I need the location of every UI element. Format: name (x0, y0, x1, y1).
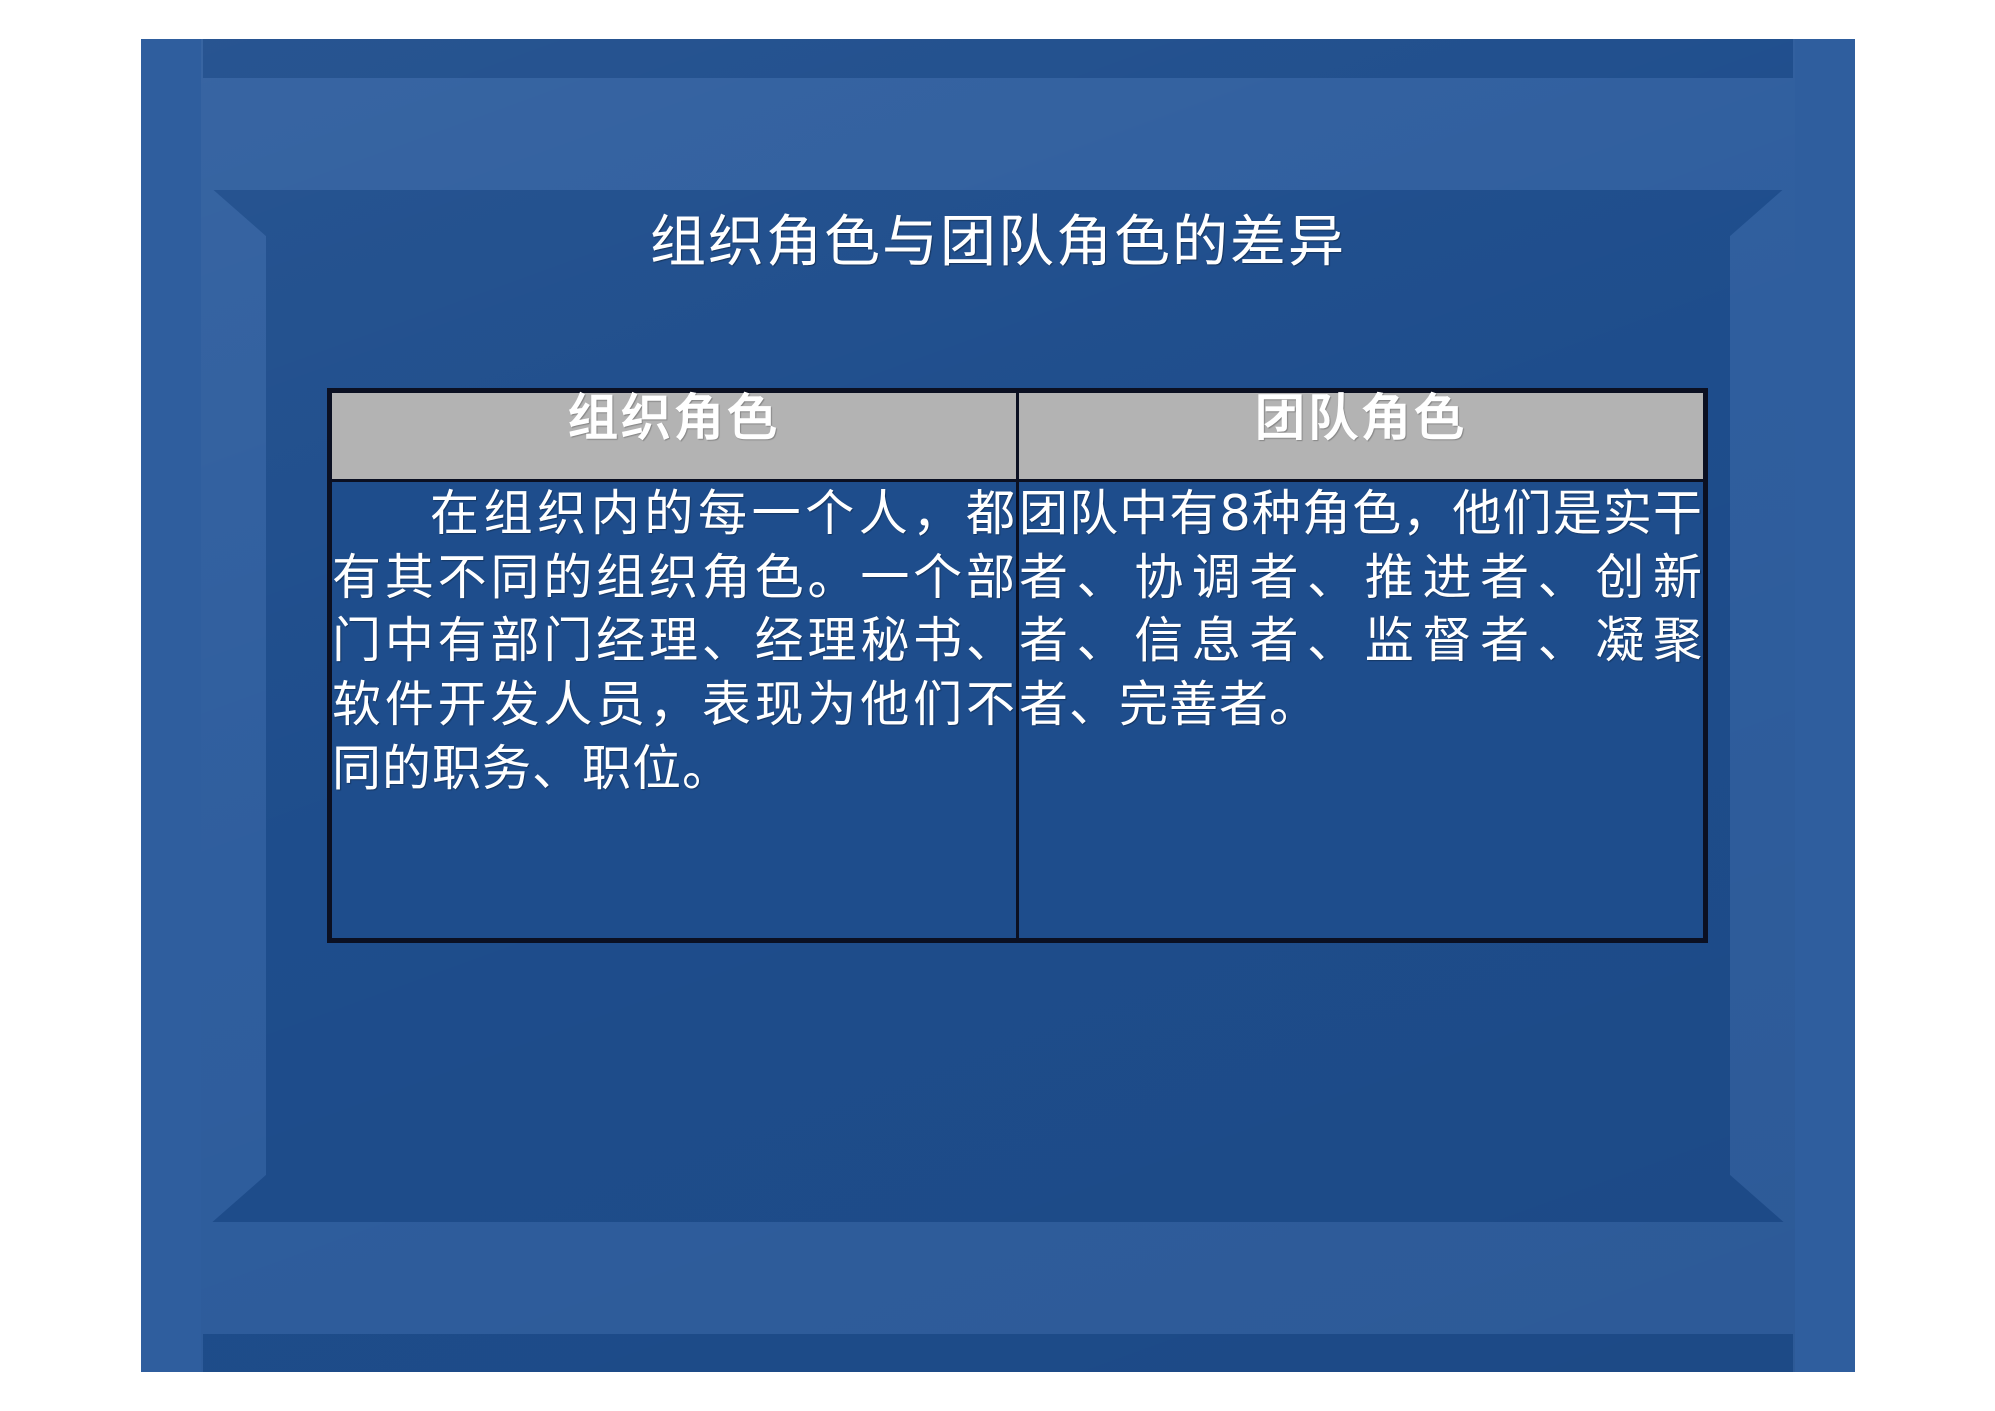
page-title: 组织角色与团队角色的差异 (201, 212, 1795, 274)
table-row: 在组织内的每一个人，都有其不同的组织角色。一个部门中有部门经理、经理秘书、软件开… (330, 481, 1706, 941)
organization-role-description: 在组织内的每一个人，都有其不同的组织角色。一个部门中有部门经理、经理秘书、软件开… (332, 482, 1016, 800)
table-header-row: 组织角色 团队角色 (330, 391, 1706, 481)
table-header-label-team-role: 团队角色 (1255, 389, 1467, 447)
frame-pillar-left (141, 39, 203, 1372)
frame-pillar-right (1793, 39, 1855, 1372)
table-cell-team-role: 团队中有8种角色，他们是实干者、协调者、推进者、创新者、信息者、监督者、凝聚者、… (1018, 481, 1706, 941)
table-header-label-organization-role: 组织角色 (568, 389, 780, 447)
table-cell-organization-role: 在组织内的每一个人，都有其不同的组织角色。一个部门中有部门经理、经理秘书、软件开… (330, 481, 1018, 941)
frame-band-top (141, 78, 1855, 190)
frame-band-bottom (141, 1222, 1855, 1334)
table-header-cell-team-role: 团队角色 (1018, 391, 1706, 481)
roles-comparison-table: 组织角色 团队角色 在组织内的每一个人，都有其不同的组织角色。一个部门中有部门经… (327, 388, 1708, 943)
team-role-description: 团队中有8种角色，他们是实干者、协调者、推进者、创新者、信息者、监督者、凝聚者、… (1019, 482, 1703, 737)
slide-root: 组织角色与团队角色的差异 组织角色 团队角色 在组织内的每一个人，都有其不同的组… (0, 0, 1995, 1411)
table-header-cell-organization-role: 组织角色 (330, 391, 1018, 481)
